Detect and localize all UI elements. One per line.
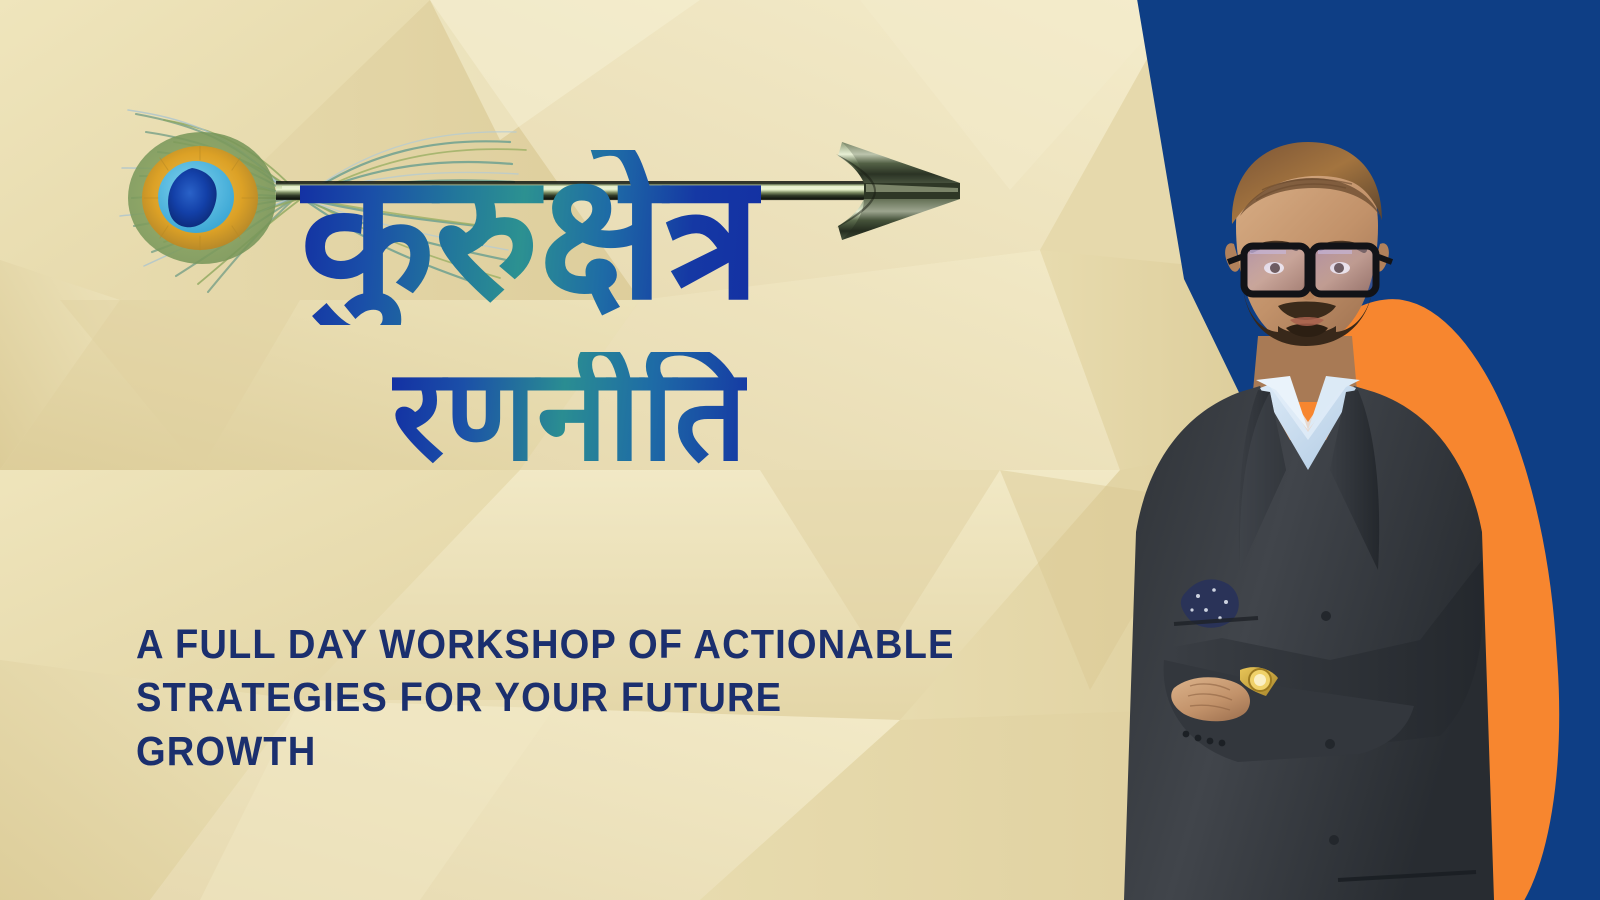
tagline-line-2: STRATEGIES FOR YOUR FUTURE GROWTH (136, 671, 973, 778)
tagline: A FULL DAY WORKSHOP OF ACTIONABLE STRATE… (136, 618, 973, 778)
head (1225, 142, 1392, 346)
speaker-portrait (1090, 140, 1530, 900)
text-content: कुरुक्षेत्र रणनीति A FULL DAY WORKSHOP O… (0, 0, 1100, 900)
tagline-line-1: A FULL DAY WORKSHOP OF ACTIONABLE (136, 618, 973, 671)
workshop-banner: कुरुक्षेत्र रणनीति A FULL DAY WORKSHOP O… (0, 0, 1600, 900)
eyeglasses (1228, 246, 1392, 294)
page-title: कुरुक्षेत्र (300, 150, 761, 325)
page-subtitle: रणनीति (392, 352, 747, 480)
